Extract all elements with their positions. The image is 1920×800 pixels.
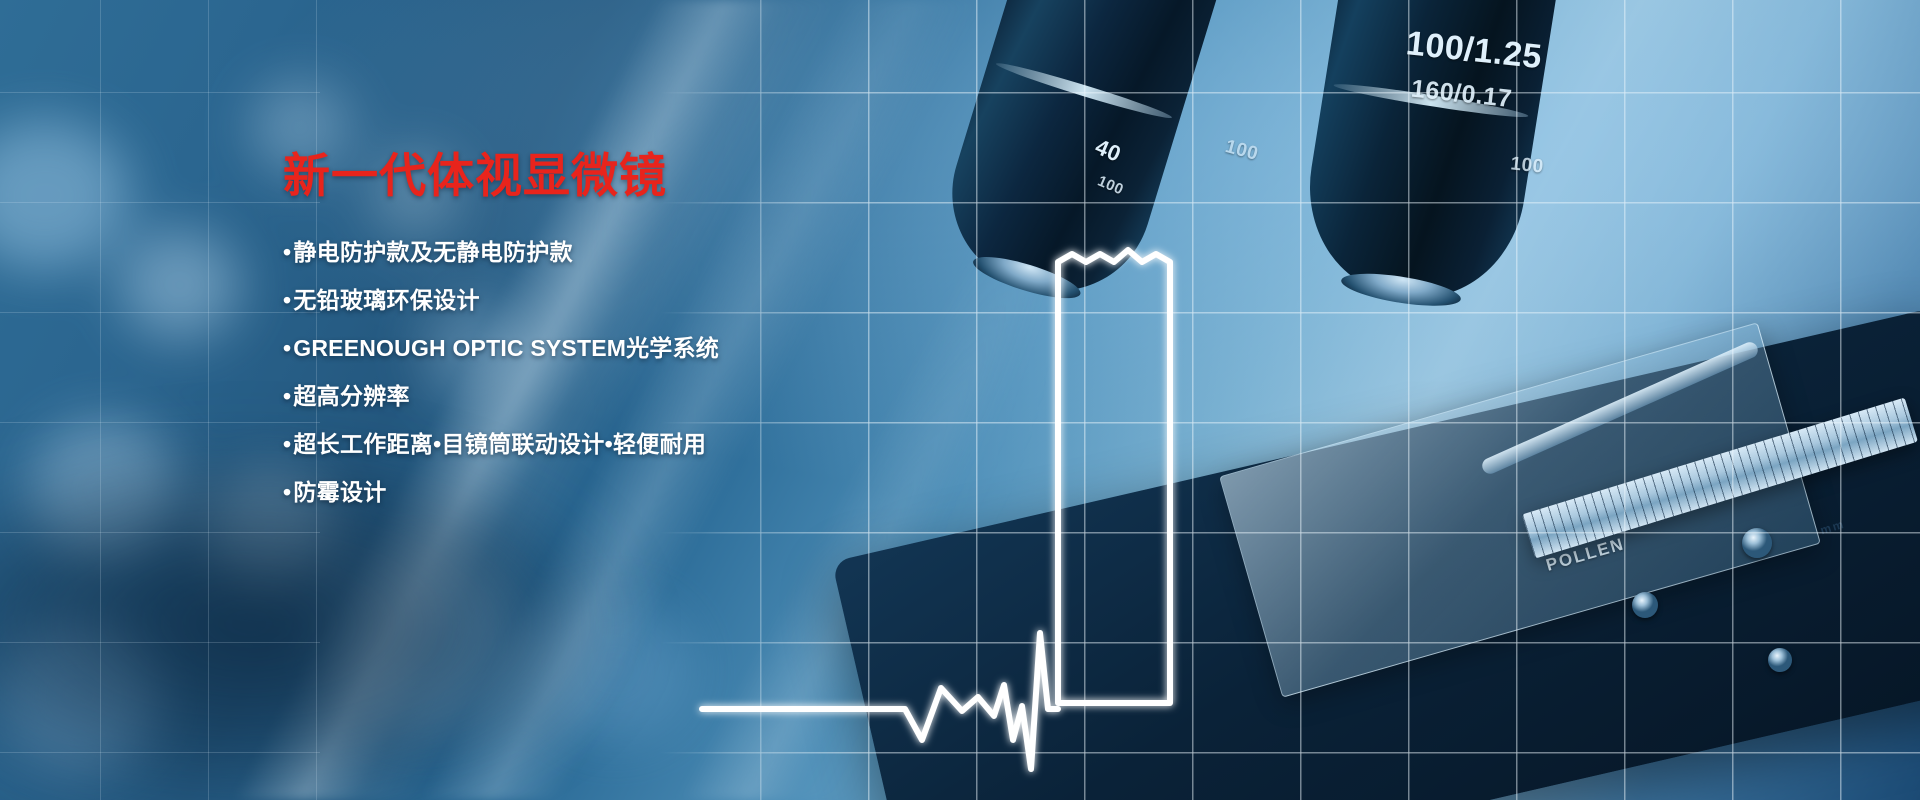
list-item: •防霉设计 [283,481,983,504]
bullet-marker: • [283,287,291,313]
list-item-label: 静电防护款及无静电防护款 [293,239,573,265]
list-item-label: 超长工作距离•目镜筒联动设计•轻便耐用 [293,431,706,457]
list-item-label: 超高分辨率 [293,383,410,409]
copy-block: 新一代体视显微镜 •静电防护款及无静电防护款 •无铅玻璃环保设计 •GREENO… [283,150,983,529]
page-title: 新一代体视显微镜 [283,150,983,203]
bullet-marker: • [283,383,291,409]
bullet-marker: • [283,335,291,361]
bullet-marker: • [283,239,291,265]
list-item: •无铅玻璃环保设计 [283,289,983,312]
bullet-marker: • [283,479,291,505]
list-item-label: GREENOUGH OPTIC SYSTEM光学系统 [293,335,719,361]
list-item-label: 防霉设计 [293,479,386,505]
list-item: •静电防护款及无静电防护款 [283,241,983,264]
hero-banner: POLLEN mm 40 100 100/1.25 160/0.17 100 1… [0,0,1920,800]
bullet-marker: • [283,431,291,457]
list-item: •超高分辨率 [283,385,983,408]
feature-list: •静电防护款及无静电防护款 •无铅玻璃环保设计 •GREENOUGH OPTIC… [283,241,983,504]
list-item-label: 无铅玻璃环保设计 [293,287,479,313]
vertical-bar-graph [1058,250,1170,703]
ecg-waveform [702,633,1058,769]
list-item: •超长工作距离•目镜筒联动设计•轻便耐用 [283,433,983,456]
list-item: •GREENOUGH OPTIC SYSTEM光学系统 [283,337,983,360]
